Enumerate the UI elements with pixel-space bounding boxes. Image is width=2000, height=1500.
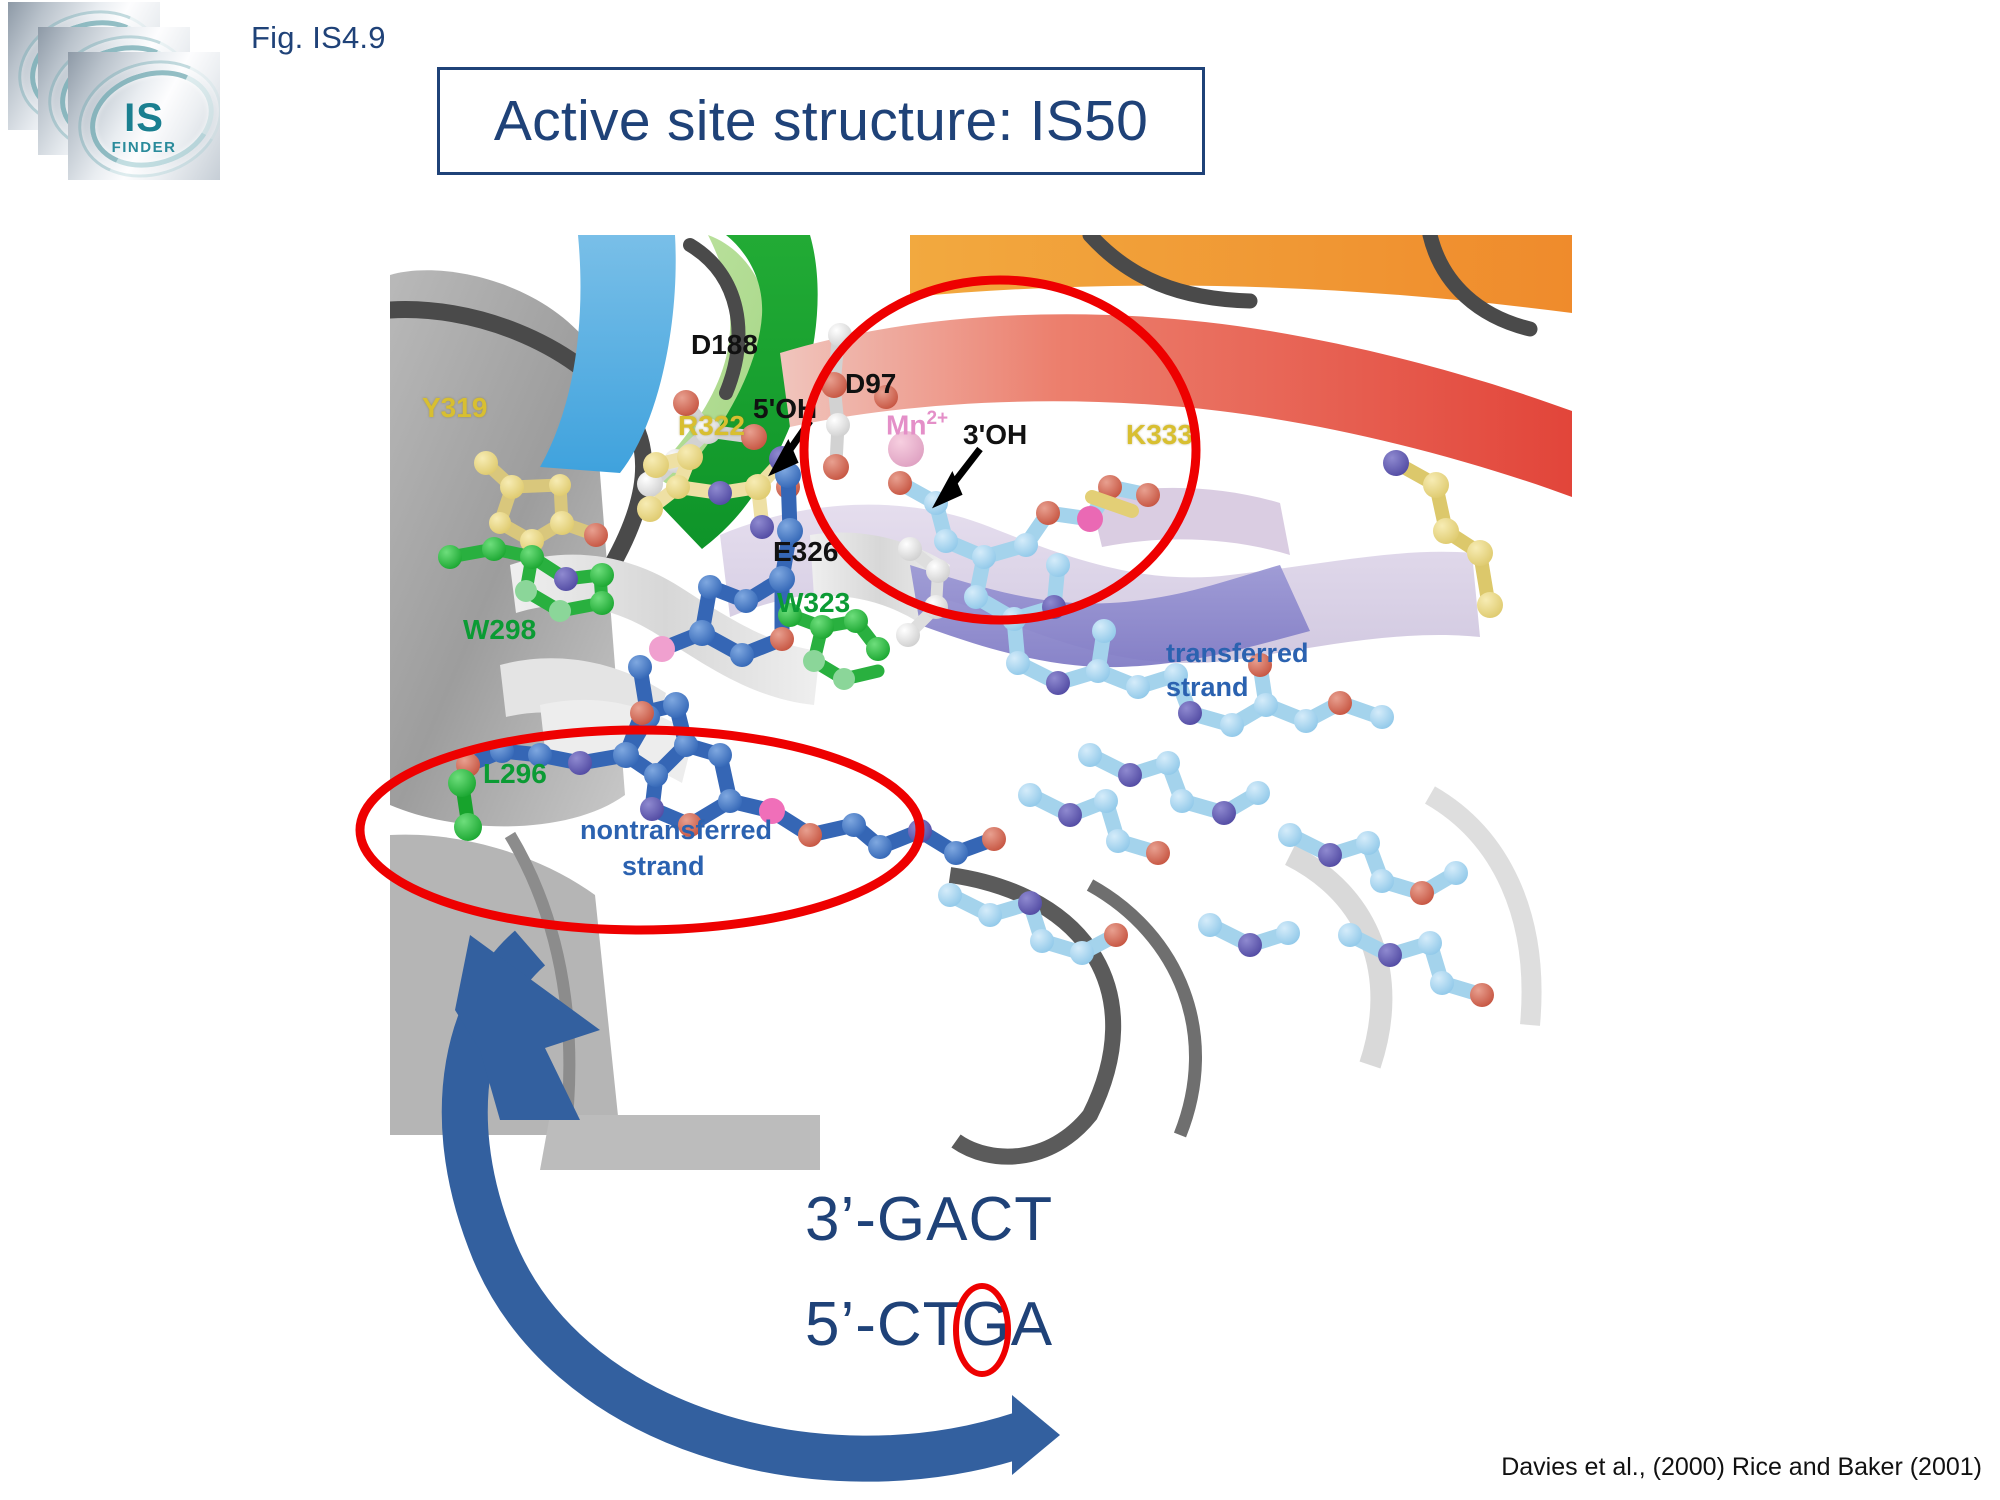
structure-illustration [390,235,1572,1170]
sequence-bottom-strand: 5’-CTGA [805,1290,1053,1359]
residue-label-d188: D188 [691,331,758,359]
mn-symbol: Mn [886,409,926,440]
label-nontransferred-strand-line2: strand [622,853,705,880]
label-5prime-oh: 5'OH [753,395,817,423]
logo-card-front: IS FINDER [68,52,220,180]
molecular-structure-figure: D188 D97 Y319 R322 5'OH Mn2+ 3'OH K333 E… [390,235,1572,1170]
mn-charge: 2+ [926,408,948,429]
residue-label-w298: W298 [463,616,536,644]
isfinder-logo[interactable]: IS FINDER [0,0,260,190]
label-mn-ion: Mn2+ [886,409,948,439]
citation-text: Davies et al., (2000) Rice and Baker (20… [1501,1453,1982,1482]
slide-title-box: Active site structure: IS50 [437,67,1205,175]
label-transferred-strand-line2: strand [1166,674,1249,701]
residue-label-y319: Y319 [422,394,487,422]
residue-label-w323: W323 [777,589,850,617]
page-title: Active site structure: IS50 [494,93,1148,150]
residue-label-l296: L296 [483,760,547,788]
residue-label-d97: D97 [845,370,896,398]
logo-primary-text: IS [68,98,220,138]
logo-secondary-text: FINDER [68,139,220,156]
residue-label-k333: K333 [1126,421,1193,449]
sequence-top-strand: 3’-GACT [805,1185,1053,1254]
label-nontransferred-strand-line1: nontransferred [580,817,772,844]
figure-number-label: Fig. IS4.9 [251,20,386,56]
label-transferred-strand-line1: transferred [1166,640,1309,667]
residue-label-r322: R322 [678,412,745,440]
label-3prime-oh: 3'OH [963,421,1027,449]
residue-label-e326: E326 [773,538,838,566]
slide-canvas: IS FINDER Fig. IS4.9 Active site structu… [0,0,2000,1500]
